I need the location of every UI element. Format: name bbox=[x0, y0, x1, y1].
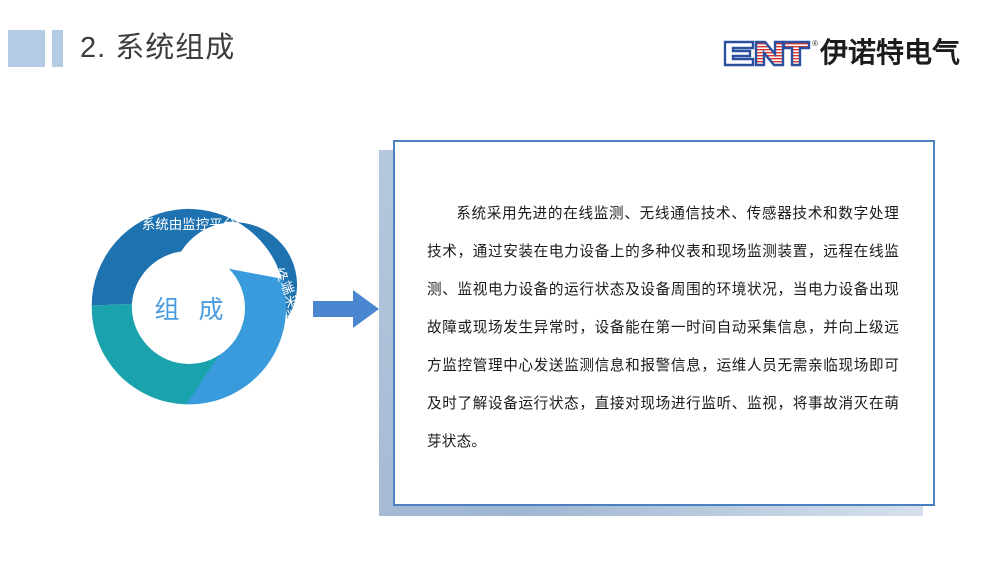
header-accent-block-small bbox=[52, 30, 63, 67]
description-panel: 系统采用先进的在线监测、无线通信技术、传感器技术和数字处理技术，通过安装在电力设… bbox=[393, 140, 935, 506]
slide-header: 2. 系统组成 ® bbox=[0, 0, 1000, 96]
ent-logo-icon bbox=[723, 40, 811, 67]
registered-trademark-icon: ® bbox=[812, 39, 818, 48]
composition-donut-diagram: 系统由监控平台 终端采集设备组成 通信传输设备 组 成 bbox=[53, 172, 325, 444]
brand-logo: ® 伊诺特电气 bbox=[723, 33, 960, 73]
description-text: 系统采用先进的在线监测、无线通信技术、传感器技术和数字处理技术，通过安装在电力设… bbox=[427, 195, 899, 461]
header-accent-block-large bbox=[8, 30, 45, 67]
company-name: 伊诺特电气 bbox=[820, 38, 960, 68]
page-title: 2. 系统组成 bbox=[80, 28, 235, 68]
donut-center-hole bbox=[133, 252, 245, 364]
flow-arrow-right-icon bbox=[313, 290, 379, 328]
donut-label-communication-transmission: 通信传输设备 bbox=[68, 272, 94, 361]
description-panel-body: 系统采用先进的在线监测、无线通信技术、传感器技术和数字处理技术，通过安装在电力设… bbox=[395, 142, 933, 461]
slide-root: 2. 系统组成 ® bbox=[0, 0, 1000, 563]
donut-label-monitoring-platform: 系统由监控平台 bbox=[142, 217, 237, 232]
